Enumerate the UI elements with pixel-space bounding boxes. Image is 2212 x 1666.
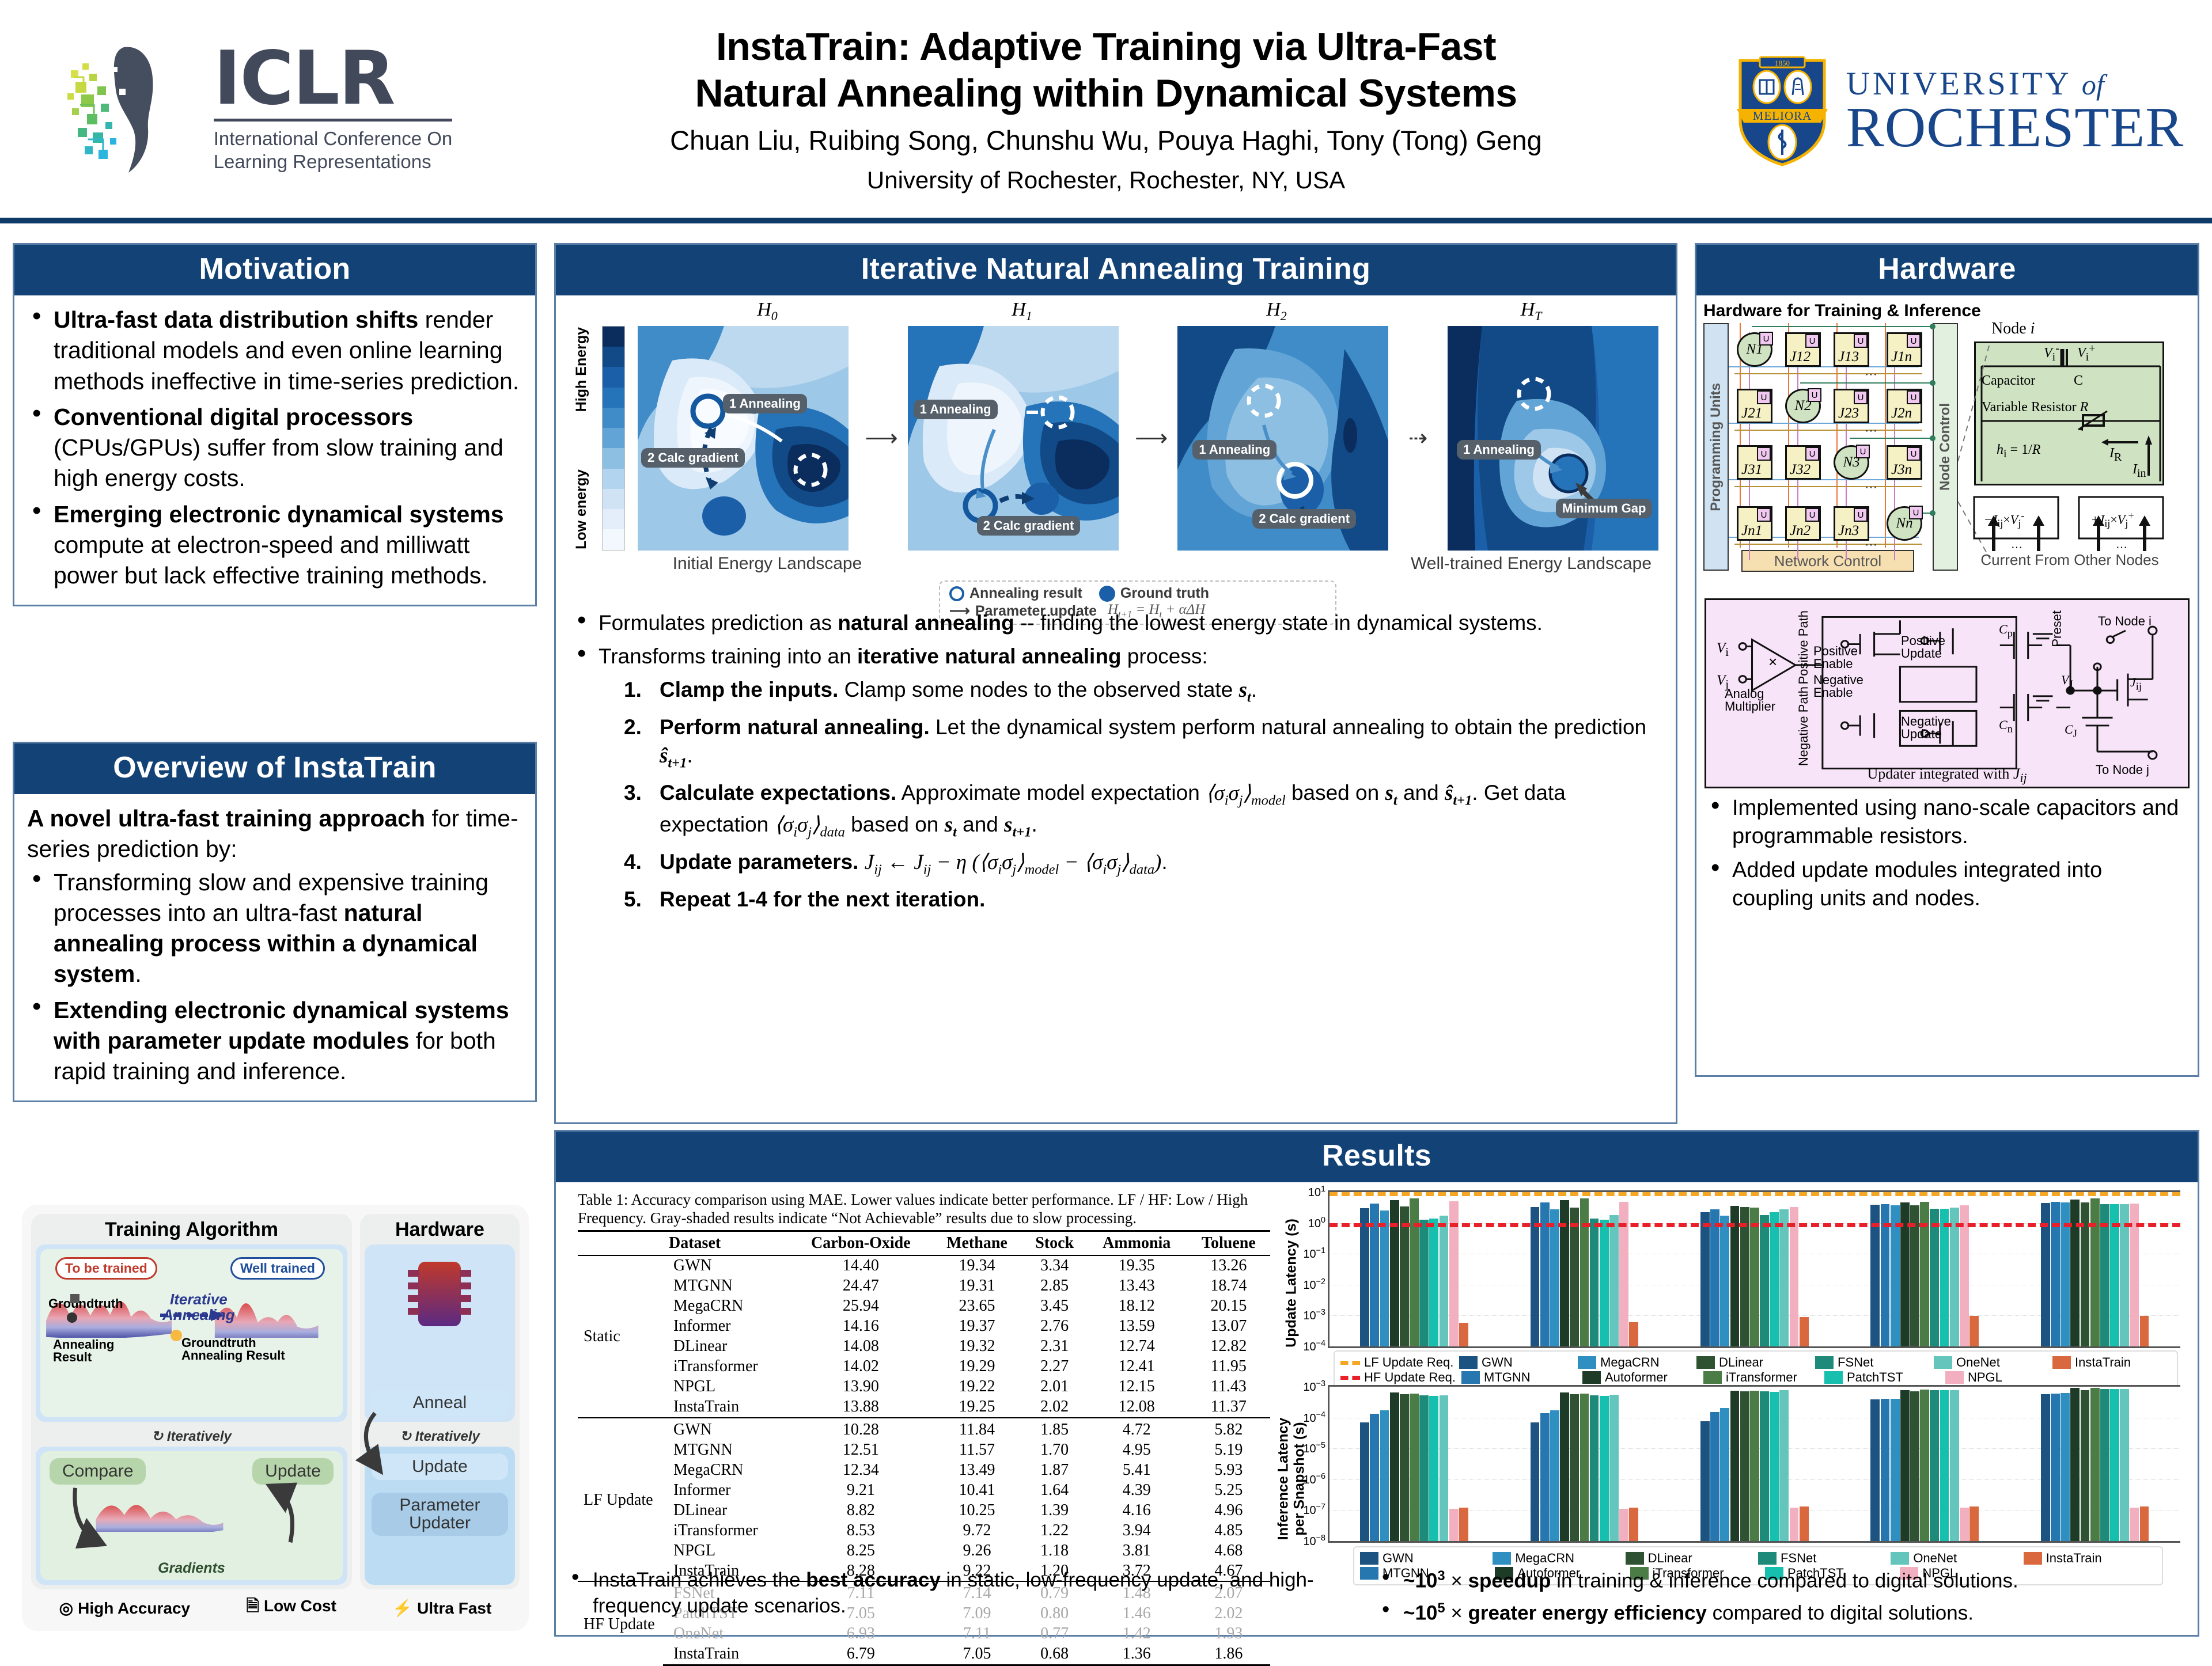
bar-instatrain-ammonia — [1969, 1316, 1979, 1346]
coupling-cell-jn1: Jn1U — [1737, 506, 1772, 541]
table-row: iTransformer8.539.721.223.944.85 — [578, 1520, 1270, 1540]
bullet-bold: greater energy efficiency — [1468, 1602, 1707, 1624]
legend-row: LF Update Req.GWNMegaCRNDLinearFSNetOneN… — [1340, 1355, 2171, 1370]
bar-fsnet-carbon-oxide — [1419, 1220, 1429, 1347]
u-badge: U — [1907, 334, 1921, 348]
iclr-logo: ICLR International Conference On Learnin… — [0, 0, 507, 218]
bar-patchtst-carbon-oxide — [1429, 1396, 1438, 1541]
label-negative-path: Negative Path — [1796, 686, 1811, 766]
bar-megacrn-methane — [1550, 1209, 1559, 1346]
coupling-cell-j3n: J3nU — [1887, 445, 1922, 480]
bullet-post: compared to digital solutions. — [1707, 1602, 1974, 1624]
caption-initial-landscape: Initial Energy Landscape — [640, 554, 895, 574]
bar-npgl-stock — [1790, 1508, 1799, 1541]
coupling-cell-j21: J21U — [1737, 389, 1772, 423]
figure-footer: ◎High Accuracy 🗎Low Cost ⚡Ultra Fast — [31, 1589, 520, 1622]
y-axis-tick: 10−8 — [1303, 1534, 1330, 1549]
bullet-bold: iterative natural annealing — [857, 644, 1122, 668]
legend-item-gwn: GWN — [1360, 1551, 1490, 1566]
bullet-pre: Transforms training into an — [599, 644, 857, 668]
target-icon: ◎ — [59, 1599, 73, 1617]
bar-mtgnn-stock — [1710, 1209, 1719, 1346]
y-axis-tick: 10−4 — [1303, 1410, 1330, 1425]
table-row: MegaCRN25.9423.653.4518.1220.15 — [578, 1296, 1270, 1316]
label-annealing-result: Annealing Result — [53, 1338, 114, 1364]
coupling-cell-jn2: Jn2U — [1785, 506, 1821, 541]
bar-instatrain-toluene — [2140, 1316, 2149, 1346]
node-i-title: Node i — [1991, 320, 2035, 338]
coupling-cell-j13: J13U — [1834, 332, 1869, 367]
bar-fsnet-ammonia — [1930, 1390, 1939, 1542]
panel-label-h2: H2 — [1149, 299, 1404, 324]
bar-npgl-ammonia — [1960, 1508, 1969, 1541]
list-item: Transforming slow and expensive training… — [27, 867, 522, 990]
table-row: InstaTrain6.797.050.681.361.86 — [578, 1644, 1270, 1665]
hardware-bullets: Implemented using nano-scale capacitors … — [1696, 788, 2198, 913]
tag-annealing-h2: 1 Annealing — [1192, 440, 1277, 460]
table-row: iTransformer14.0219.292.2712.4111.95 — [578, 1357, 1270, 1377]
list-item: Conventional digital processors (CPUs/GP… — [27, 402, 522, 494]
col-ammonia: Ammonia — [1086, 1231, 1187, 1255]
label-current-right: +Jij×Vj+ — [2092, 510, 2134, 530]
legend-label: MegaCRN — [1600, 1355, 1660, 1370]
u-badge: U — [1854, 334, 1868, 348]
legend-item-dlinear: DLinear — [1696, 1355, 1813, 1370]
legend-swatch — [2052, 1356, 2071, 1369]
bullet-pre: ~10 — [1403, 1570, 1437, 1592]
legend-label: DLinear — [1719, 1355, 1763, 1370]
bar-autoformer-stock — [1730, 1391, 1740, 1541]
legend-item-lf-update-req-: LF Update Req. — [1340, 1355, 1457, 1370]
bar-itransformer-stock — [1750, 1391, 1759, 1541]
bar-onenet-ammonia — [1950, 1208, 1959, 1346]
orange-marker-icon — [171, 1330, 182, 1341]
bar-npgl-toluene — [2130, 1508, 2139, 1541]
bar-gwn-toluene — [2041, 1394, 2050, 1541]
bar-mtgnn-ammonia — [1881, 1399, 1890, 1541]
bar-itransformer-methane — [1580, 1198, 1589, 1346]
footer-item-high-accuracy: ◎High Accuracy — [59, 1599, 190, 1618]
legend-label: FSNet — [1838, 1355, 1873, 1370]
threshold-line-lf-update-req- — [1330, 1192, 2180, 1196]
bullet-bold: Emerging electronic dynamical systems — [54, 501, 504, 527]
bar-patchtst-carbon-oxide — [1429, 1219, 1438, 1346]
u-badge: U — [1808, 388, 1821, 402]
colorbar-labels: High Energy Low energy — [573, 326, 599, 551]
panel-label-h0: H0 — [640, 299, 895, 324]
lightning-icon: ⚡ — [392, 1599, 412, 1617]
table-row: InstaTrain13.8819.252.0212.0811.37 — [578, 1397, 1270, 1418]
svg-text:⋯: ⋯ — [1865, 423, 1877, 438]
y-axis-tick: 10−7 — [1303, 1503, 1330, 1518]
legend-label: DLinear — [1648, 1551, 1692, 1566]
list-item: Formulates prediction as natural anneali… — [572, 609, 1657, 637]
legend-swatch — [1360, 1552, 1378, 1565]
tag-minimum-gap: Minimum Gap — [1556, 499, 1652, 518]
tag-calc-gradient-h0: 2 Calc gradient — [641, 448, 745, 468]
hardware-figure-title: Hardware for Training & Inference — [1703, 301, 2191, 321]
bar-itransformer-methane — [1580, 1394, 1589, 1541]
legend-swatch — [1758, 1552, 1777, 1565]
annealing-figure: H0 H1 H2 HT High Energy Low energy — [556, 295, 1676, 601]
bar-onenet-ammonia — [1950, 1390, 1959, 1542]
legend-item-megacrn: MegaCRN — [1493, 1551, 1623, 1566]
node-detail-box: Vi- Vi+ Capacitor C Variable Resistor R … — [1974, 341, 2164, 485]
bullet-post: -- finding the lowest energy state in dy… — [1014, 611, 1543, 635]
motivation-panel: Motivation Ultra-fast data distribution … — [13, 243, 537, 606]
tag-annealing-h0: 1 Annealing — [723, 394, 807, 413]
step-4: Update parameters. Jij ← Jij − η (⟨σiσj⟩… — [622, 848, 1657, 879]
bar-instatrain-carbon-oxide — [1459, 1508, 1468, 1541]
list-item: Extending electronic dynamical systems w… — [27, 995, 522, 1087]
iclr-subtitle-line2: Learning Representations — [214, 150, 453, 173]
bullet-bold: Ultra-fast data distribution shifts — [54, 306, 418, 333]
legend-item-onenet: OneNet — [1934, 1355, 2050, 1370]
annealing-illustration: To be trained Well trained Groundtruth — [40, 1249, 343, 1417]
bar-itransformer-toluene — [2090, 1198, 2100, 1346]
bar-dlinear-carbon-oxide — [1400, 1206, 1409, 1346]
list-item: Added update modules integrated into cou… — [1706, 856, 2186, 913]
step-3: Calculate expectations. Approximate mode… — [622, 779, 1657, 842]
coupling-cell-j12: J12U — [1785, 332, 1821, 367]
ur-rochester-word: ROCHESTER — [1846, 103, 2184, 153]
table-row: Static GWN14.4019.343.3419.3513.26 — [578, 1255, 1270, 1276]
bullet-bold: speedup — [1468, 1570, 1551, 1592]
step-1: Clamp the inputs. Clamp some nodes to th… — [622, 675, 1657, 707]
iclr-subtitle-line1: International Conference On — [214, 127, 453, 150]
title-block: InstaTrain: Adaptive Training via Ultra-… — [507, 24, 1705, 193]
bullet-exponent: 5 — [1437, 1600, 1445, 1616]
bar-itransformer-carbon-oxide — [1410, 1394, 1419, 1541]
legend-swatch — [2024, 1552, 2042, 1565]
bar-autoformer-carbon-oxide — [1390, 1392, 1399, 1541]
ground-truth-marker-icon — [1099, 586, 1115, 602]
tag-annealing-ht: 1 Annealing — [1457, 440, 1541, 460]
results-table-area: Table 1: Accuracy comparison using MAE. … — [562, 1186, 1276, 1580]
results-bullets: InstaTrain achieves the best accuracy in… — [556, 1568, 2198, 1631]
bar-megacrn-carbon-oxide — [1380, 1410, 1389, 1541]
bar-npgl-methane — [1619, 1509, 1628, 1541]
y-axis-tick: 10−6 — [1303, 1472, 1330, 1487]
bar-autoformer-toluene — [2070, 1200, 2080, 1346]
y-axis-tick: 10−4 — [1303, 1339, 1330, 1354]
legend-label: LF Update Req. — [1364, 1355, 1453, 1370]
motivation-body: Ultra-fast data distribution shifts rend… — [14, 295, 535, 605]
results-bullets-left: InstaTrain achieves the best accuracy in… — [566, 1568, 1377, 1631]
bullet-bold: best accuracy — [806, 1569, 940, 1591]
bar-instatrain-stock — [1800, 1506, 1809, 1541]
legend-swatch — [1945, 1371, 1964, 1384]
update-latency-chart: Update Latency (s) 10−410−310−210−110010… — [1278, 1188, 2186, 1378]
bullet-pre: ~10 — [1403, 1602, 1437, 1624]
bar-autoformer-ammonia — [1900, 1390, 1910, 1541]
legend-item-onenet: OneNet — [1891, 1551, 2021, 1566]
overview-lead-bold: A novel ultra-fast training approach — [27, 805, 425, 832]
tag-calc-gradient-h1: 2 Calc gradient — [977, 516, 1081, 536]
u-badge: U — [1805, 334, 1819, 348]
label-negative-enable: NegativeEnable — [1813, 674, 1863, 699]
caption-current-from-other-nodes: Current From Other Nodes — [1972, 551, 2168, 569]
legend-annealing-result: Annealing result — [969, 585, 1082, 602]
bar-onenet-carbon-oxide — [1440, 1395, 1449, 1541]
bar-patchtst-ammonia — [1940, 1209, 1949, 1346]
table-header-row: Dataset Carbon-Oxide Methane Stock Ammon… — [578, 1231, 1270, 1255]
compare-update-illustration: Compare Update Gradients — [40, 1451, 343, 1580]
results-heading: Results — [556, 1132, 2198, 1182]
label-cp: Cp — [1999, 622, 2013, 639]
bar-gwn-ammonia — [1870, 1399, 1880, 1541]
bar-instatrain-methane — [1629, 1508, 1638, 1541]
label-analog-multiplier: AnalogMultiplier — [1725, 688, 1775, 713]
bar-onenet-toluene — [2120, 1389, 2129, 1541]
y-axis-tick: 100 — [1308, 1216, 1330, 1231]
title-line-1: InstaTrain: Adaptive Training via Ultra-… — [518, 24, 1694, 70]
bar-gwn-methane — [1531, 1207, 1540, 1346]
label-positive-enable: PositiveEnable — [1813, 645, 1858, 670]
legend-label: GWN — [1382, 1551, 1414, 1566]
node-control-column: Node Control — [1933, 323, 1958, 571]
bullet-post: . — [135, 961, 141, 987]
bar-fsnet-ammonia — [1930, 1209, 1939, 1346]
step-2-title: Perform natural annealing. — [660, 715, 930, 739]
coupling-cell-j2n: J2nU — [1887, 389, 1922, 423]
bar-instatrain-toluene — [2140, 1506, 2149, 1541]
bar-mtgnn-carbon-oxide — [1370, 1414, 1379, 1541]
label-positive-update: PositiveUpdate — [1901, 635, 1945, 660]
table-row: DLinear8.8210.251.394.164.96 — [578, 1500, 1270, 1520]
caption-updater: Updater integrated with Jij — [1706, 765, 2188, 785]
table-caption: Table 1: Accuracy comparison using MAE. … — [578, 1190, 1270, 1228]
bar-mtgnn-toluene — [2051, 1394, 2060, 1541]
legend-swatch — [1934, 1356, 1952, 1369]
legend-swatch — [1824, 1371, 1843, 1384]
overview-body: A novel ultra-fast training approach for… — [14, 794, 535, 1100]
coupling-cell-j32: J32U — [1785, 445, 1821, 480]
label-h-formula: hi = 1/R — [1997, 442, 2040, 461]
bar-autoformer-carbon-oxide — [1390, 1200, 1399, 1346]
bar-dlinear-toluene — [2081, 1390, 2090, 1541]
label-preset: Preset — [2050, 610, 2065, 647]
bar-megacrn-stock — [1720, 1216, 1729, 1346]
bar-itransformer-ammonia — [1920, 1390, 1929, 1541]
bar-npgl-stock — [1790, 1207, 1799, 1346]
bar-instatrain-ammonia — [1969, 1506, 1979, 1541]
y-axis-tick: 101 — [1308, 1185, 1330, 1200]
bar-itransformer-carbon-oxide — [1410, 1198, 1419, 1346]
parameter-updater-block: ParameterUpdater — [372, 1493, 508, 1536]
legend-item-gwn: GWN — [1459, 1355, 1575, 1370]
bullet-post: in training & inference compared to digi… — [1551, 1570, 2018, 1592]
bullet-post: process: — [1122, 644, 1208, 668]
iteratively-label-left: ↻ Iteratively — [31, 1426, 352, 1447]
bar-dlinear-stock — [1740, 1207, 1749, 1346]
bar-patchtst-ammonia — [1940, 1390, 1949, 1541]
update-latency-ylabel: Update Latency (s) — [1278, 1188, 1305, 1378]
bar-patchtst-stock — [1770, 1212, 1779, 1346]
tag-calc-gradient-h2: 2 Calc gradient — [1252, 509, 1356, 529]
label-c: C — [2074, 373, 2083, 389]
author-list: Chuan Liu, Ruibing Song, Chunshu Wu, Pou… — [518, 124, 1694, 156]
colorbar-low-label: Low energy — [573, 469, 590, 549]
label-vj-node: VJ — [2061, 673, 2073, 690]
table-row: MegaCRN12.3413.491.875.415.93 — [578, 1460, 1270, 1480]
svg-text:1850: 1850 — [1775, 59, 1790, 67]
overview-lead: A novel ultra-fast training approach for… — [27, 803, 522, 865]
bar-autoformer-stock — [1730, 1206, 1740, 1346]
bar-patchtst-toluene — [2110, 1389, 2119, 1541]
iterative-natural-annealing-panel: Iterative Natural Annealing Training H0 … — [554, 243, 1677, 1124]
table-row: LF Update GWN10.2811.841.854.725.82 — [578, 1418, 1270, 1440]
table-row: MTGNN12.5111.571.704.955.19 — [578, 1440, 1270, 1460]
bar-patchtst-methane — [1600, 1220, 1609, 1347]
overview-bullet-list: Transforming slow and expensive training… — [27, 867, 522, 1087]
legend-swatch — [1582, 1371, 1601, 1384]
step-5: Repeat 1-4 for the next iteration. — [622, 885, 1657, 913]
bar-onenet-stock — [1779, 1209, 1789, 1346]
legend-swatch — [1891, 1552, 1909, 1565]
bar-megacrn-carbon-oxide — [1380, 1210, 1389, 1346]
panel-label-ht: HT — [1404, 299, 1658, 324]
training-algorithm-column: Training Algorithm To be trained Well tr… — [31, 1214, 352, 1589]
y-axis-tick: 10−5 — [1303, 1441, 1330, 1456]
bar-dlinear-methane — [1570, 1208, 1579, 1346]
label-to-node-i: To Node i — [2098, 614, 2152, 629]
bar-fsnet-stock — [1760, 1215, 1769, 1346]
bar-gwn-carbon-oxide — [1360, 1208, 1369, 1346]
inference-latency-ylabel: Inference Latencyper Snapshot (s) — [1278, 1383, 1305, 1575]
current-from-other-nodes-block: ⋯ ⋯ −Jij×Vj- +Jij×Vj+ Current From Other… — [1972, 494, 2168, 568]
bullet-pre: Transforming slow and expensive training… — [54, 869, 488, 926]
bullet-exponent: 3 — [1437, 1568, 1445, 1584]
bullet-rest: (CPUs/GPUs) suffer from slow training an… — [54, 434, 503, 491]
flow-arrow-1-icon: ⟶ — [865, 425, 891, 451]
u-badge: U — [1854, 390, 1868, 404]
y-axis-tick: 10−3 — [1303, 1379, 1330, 1394]
node-cell-nn: NnU — [1887, 506, 1922, 541]
bar-fsnet-stock — [1760, 1391, 1769, 1541]
bar-instatrain-methane — [1629, 1322, 1638, 1346]
u-badge: U — [1757, 447, 1771, 461]
bar-fsnet-toluene — [2100, 1389, 2109, 1541]
step-5-title: Repeat 1-4 for the next iteration. — [660, 887, 985, 911]
u-badge: U — [1856, 445, 1870, 458]
list-item: ~105 × greater energy efficiency compare… — [1377, 1600, 2187, 1626]
list-item: Transforms training into an iterative na… — [572, 642, 1657, 670]
overview-panel: Overview of InstaTrain A novel ultra-fas… — [13, 742, 537, 1102]
flow-arrow-2-icon: ⟶ — [1135, 425, 1161, 451]
label-i-r: IR — [2109, 446, 2122, 464]
svg-text:MELIORA: MELIORA — [1752, 109, 1812, 123]
hardware-architecture-figure: Hardware for Training & Inference Progra… — [1696, 295, 2198, 595]
table-row: MTGNN24.4719.312.8513.4318.74 — [578, 1276, 1270, 1296]
svg-text:⋯: ⋯ — [1865, 480, 1877, 494]
bar-gwn-carbon-oxide — [1360, 1422, 1369, 1541]
label-current-left: −Jij×Vj- — [1984, 510, 2024, 530]
energy-colorbar: High Energy Low energy — [573, 326, 638, 551]
bar-onenet-methane — [1609, 1395, 1619, 1541]
label-groundtruth: Groundtruth — [48, 1296, 123, 1311]
node-cell-n3: N3U — [1834, 445, 1869, 480]
bar-itransformer-stock — [1750, 1208, 1759, 1346]
legend-label: FSNet — [1781, 1551, 1816, 1566]
annealing-bullet-list: Formulates prediction as natural anneali… — [572, 609, 1657, 670]
money-stack-icon: 🗎 — [246, 1597, 259, 1615]
label-vi: Vi — [1717, 640, 1729, 659]
y-axis-tick: 10−3 — [1303, 1308, 1330, 1323]
energy-landscape-h2: 1 Annealing 2 Calc gradient — [1177, 326, 1388, 551]
square-marker-icon — [70, 1294, 79, 1303]
legend-swatch — [1340, 1376, 1360, 1380]
annealing-text: Formulates prediction as natural anneali… — [556, 601, 1676, 925]
affiliation: University of Rochester, Rochester, NY, … — [518, 166, 1694, 194]
legend-ground-truth: Ground truth — [1120, 585, 1209, 602]
u-badge: U — [1805, 508, 1819, 522]
annealing-steps-list: Clamp the inputs. Clamp some nodes to th… — [622, 675, 1657, 913]
label-variable-resistor: Variable Resistor R — [1982, 400, 2088, 415]
energy-landscape-h1: 1 Annealing 2 Calc gradient — [908, 326, 1119, 551]
hardware-panel: Hardware Hardware for Training & Inferen… — [1695, 243, 2199, 1077]
label-cj: CJ — [2065, 722, 2077, 739]
legend-label: MegaCRN — [1515, 1551, 1574, 1566]
inference-latency-chart: Inference Latencyper Snapshot (s) 10−810… — [1278, 1383, 2186, 1575]
group-label-static: Static — [578, 1255, 663, 1418]
legend-swatch — [1696, 1356, 1715, 1369]
bar-patchtst-methane — [1600, 1396, 1609, 1541]
u-badge: U — [1759, 332, 1773, 346]
legend-item-megacrn: MegaCRN — [1578, 1355, 1694, 1370]
training-algorithm-title: Training Algorithm — [31, 1214, 352, 1244]
poster-header: ICLR International Conference On Learnin… — [0, 0, 2212, 223]
overview-heading: Overview of InstaTrain — [14, 743, 535, 794]
bar-dlinear-methane — [1570, 1394, 1579, 1541]
label-negative-update: NegativeUpdate — [1901, 715, 1951, 741]
tag-annealing-h1: 1 Annealing — [914, 400, 998, 419]
bar-onenet-carbon-oxide — [1440, 1216, 1449, 1346]
coupling-cell-j1n: J1nU — [1887, 332, 1922, 367]
bullet-bold: Conventional digital processors — [54, 404, 413, 430]
bar-npgl-carbon-oxide — [1449, 1509, 1459, 1541]
legend-swatch — [1459, 1356, 1478, 1369]
title-line-2: Natural Annealing within Dynamical Syste… — [518, 70, 1694, 116]
coupling-cell-jn3: Jn3U — [1834, 506, 1869, 541]
step-4-title: Update parameters. — [660, 850, 858, 874]
rochester-shield-icon: 1850 MELIORA — [1733, 51, 1831, 166]
legend-label: InstaTrain — [2046, 1551, 2102, 1566]
panel-label-h1: H1 — [895, 299, 1149, 324]
col-carbon-oxide: Carbon-Oxide — [790, 1231, 931, 1255]
bullet-mid: × — [1445, 1570, 1468, 1592]
step-1-title: Clamp the inputs. — [660, 678, 838, 701]
hardware-heading: Hardware — [1696, 245, 2198, 295]
u-badge: U — [1854, 508, 1868, 522]
y-axis-tick: 10−2 — [1303, 1277, 1330, 1292]
caption-final-landscape: Well-trained Energy Landscape — [1404, 554, 1658, 574]
y-axis-tick: 10−1 — [1303, 1246, 1330, 1261]
label-jij: Jij — [2130, 675, 2142, 692]
u-badge: U — [1907, 447, 1921, 461]
legend-item-dlinear: DLinear — [1626, 1551, 1756, 1566]
bar-gwn-methane — [1531, 1422, 1540, 1541]
bullet-rest: compute at electron-speed and milliwatt … — [54, 532, 488, 589]
legend-item-fsnet: FSNet — [1758, 1551, 1888, 1566]
energy-landscape-ht: 1 Annealing Minimum Gap — [1448, 326, 1658, 551]
threshold-line-hf-update-req- — [1330, 1223, 2180, 1227]
legend-swatch — [1815, 1356, 1834, 1369]
motivation-bullet-list: Ultra-fast data distribution shifts rend… — [27, 305, 522, 591]
label-positive-path: Positive Path — [1796, 610, 1811, 684]
chip-icon — [396, 1251, 483, 1338]
bar-dlinear-carbon-oxide — [1400, 1394, 1409, 1541]
